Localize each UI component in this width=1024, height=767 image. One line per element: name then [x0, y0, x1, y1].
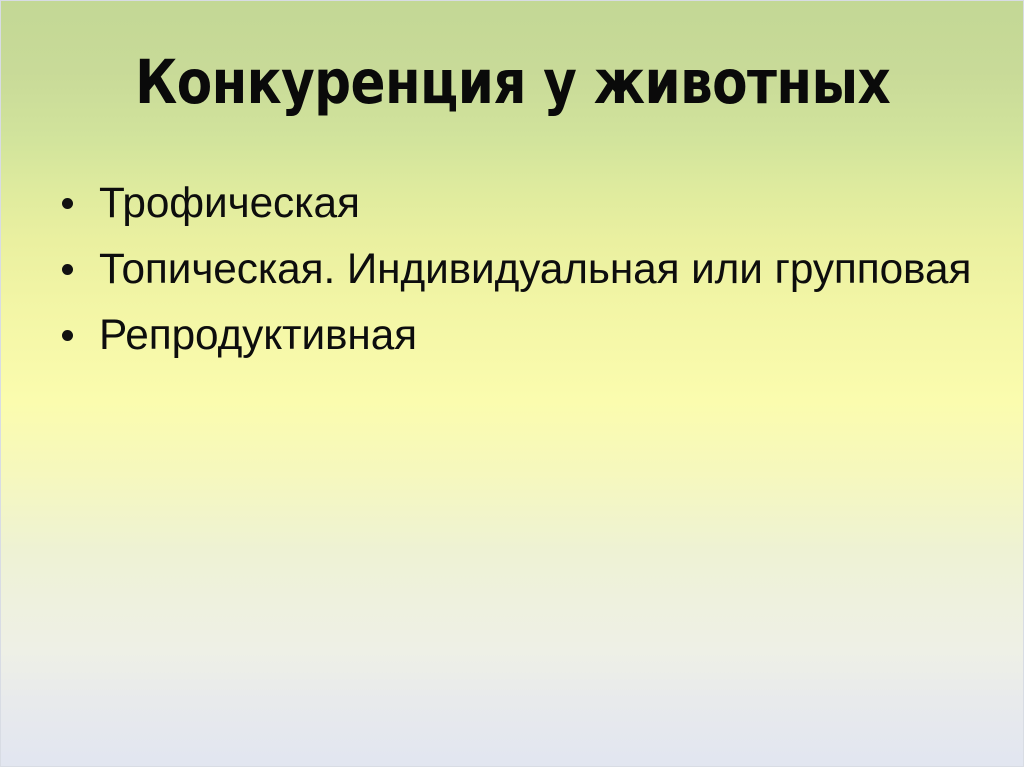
slide-title-placeholder: Конкуренция у животных [1, 51, 1024, 115]
list-item: Топическая. Индивидуальная или групповая [53, 247, 983, 291]
bullet-list: Трофическая Топическая. Индивидуальная и… [53, 181, 983, 357]
slide-body-placeholder: Трофическая Топическая. Индивидуальная и… [53, 181, 983, 357]
list-item: Репродуктивная [53, 313, 983, 357]
list-item-label: Репродуктивная [99, 313, 417, 357]
list-item-label: Трофическая [99, 181, 360, 225]
bullet-dot-icon [62, 198, 73, 209]
bullet-dot-icon [62, 264, 73, 275]
bullet-dot-icon [62, 330, 73, 341]
presentation-slide: Конкуренция у животных Трофическая Топич… [0, 0, 1024, 767]
list-item: Трофическая [53, 181, 983, 225]
list-item-label: Топическая. Индивидуальная или групповая [99, 247, 971, 291]
page-title: Конкуренция у животных [135, 51, 890, 115]
